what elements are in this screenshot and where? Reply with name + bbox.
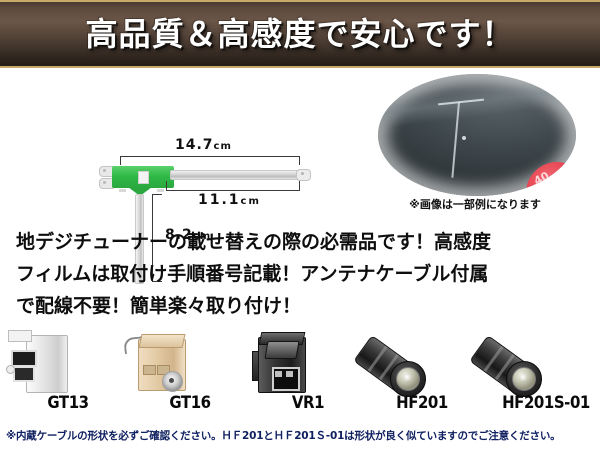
gt13-top-tab xyxy=(8,330,32,342)
hf201-connector-image xyxy=(362,329,482,397)
vr1-pin-left xyxy=(275,371,282,377)
connector-label-gt13: GT13 xyxy=(33,393,103,413)
red-inspection-sticker: 40 xyxy=(526,162,576,196)
gt13-port-lower xyxy=(13,366,35,382)
product-description: 地デジチューナーの載せ替えの際の必需品です！高感度 フィルムは取付け手順番号記載… xyxy=(0,220,600,325)
hf201-center-pin xyxy=(404,374,411,382)
film-nub-left xyxy=(119,189,126,192)
windshield-edge xyxy=(378,74,576,130)
dimension-value-14-7: 14.7 xyxy=(175,137,214,153)
dimension-unit-cm: cm xyxy=(214,141,232,152)
footer-disclaimer: ※内蔵ケーブルの形状を必ずご確認ください。ＨＦ201とＨＦ201Ｓ-01は形状が… xyxy=(0,428,600,443)
gt16-top-bracket xyxy=(139,334,186,348)
film-anchor-dot-top xyxy=(103,169,106,172)
dimension-label-element-width: 11.1cm xyxy=(198,192,261,208)
dimension-bracket-total-width xyxy=(120,156,300,165)
film-horizontal-end-dot xyxy=(301,172,304,175)
film-anchor-dot-bottom xyxy=(103,181,106,184)
product-banner-page: 高品質＆高感度で安心です！ 14.7cm 11.1cm 8.2 xyxy=(0,0,600,450)
description-line-2: フィルムは取付け手順番号記載！アンテナケーブル付属 xyxy=(16,258,584,290)
film-horizontal-end-tab xyxy=(296,169,311,181)
vr1-connector-image xyxy=(232,329,352,397)
windshield-antenna-photo: 40 ※画像は一部例になります xyxy=(350,68,600,218)
connector-type-row: GT13 GT16 xyxy=(0,327,600,425)
film-step-number-box xyxy=(138,171,149,184)
connector-item-vr1: VR1 xyxy=(232,327,352,425)
hf201s01-connector-image xyxy=(478,329,598,397)
photo-oval-frame: 40 xyxy=(378,74,576,196)
connector-item-hf201: HF201 xyxy=(362,327,482,425)
dimension-label-total-width: 14.7cm xyxy=(175,137,232,153)
connector-item-gt13: GT13 xyxy=(2,327,122,425)
gt16-coax-pin xyxy=(169,378,174,383)
hf201-ridge-1 xyxy=(368,346,388,372)
vr1-pin-right xyxy=(286,371,293,377)
film-horizontal-element xyxy=(170,170,300,180)
film-nub-right xyxy=(157,189,164,192)
banner-title: 高品質＆高感度で安心です！ xyxy=(85,18,514,50)
antenna-film-dimension-diagram: 14.7cm 11.1cm 8.2cm xyxy=(0,68,350,218)
connector-label-hf201: HF201 xyxy=(387,393,457,413)
sticker-number: 40 xyxy=(532,169,552,188)
photo-caption: ※画像は一部例になります xyxy=(350,196,600,212)
connector-item-hf201s01: HF201S-01 xyxy=(478,327,598,425)
gt13-clip xyxy=(6,365,15,374)
gt13-port-upper xyxy=(11,350,37,367)
connector-item-gt16: GT16 xyxy=(112,327,232,425)
connector-label-hf201s01: HF201S-01 xyxy=(502,393,590,413)
connector-label-gt16: GT16 xyxy=(155,393,225,413)
hf201s01-center-pin xyxy=(520,374,527,382)
gt16-connector-image xyxy=(112,329,232,397)
gt13-connector-image xyxy=(2,329,122,397)
dimension-bracket-element-width xyxy=(166,181,300,191)
antenna-trace-node xyxy=(462,136,466,140)
description-line-3: で配線不要！簡単楽々取り付け！ xyxy=(16,290,584,322)
gt16-slot-left xyxy=(143,365,156,375)
description-line-1: 地デジチューナーの載せ替えの際の必需品です！高感度 xyxy=(16,226,584,258)
header-banner: 高品質＆高感度で安心です！ xyxy=(0,0,600,68)
vr1-latch-lever xyxy=(264,341,299,359)
dimension-unit-cm: cm xyxy=(241,196,261,207)
dimension-value-11-1: 11.1 xyxy=(198,192,241,208)
hf201s01-ridge-1 xyxy=(484,346,504,372)
connector-label-vr1: VR1 xyxy=(273,393,343,413)
